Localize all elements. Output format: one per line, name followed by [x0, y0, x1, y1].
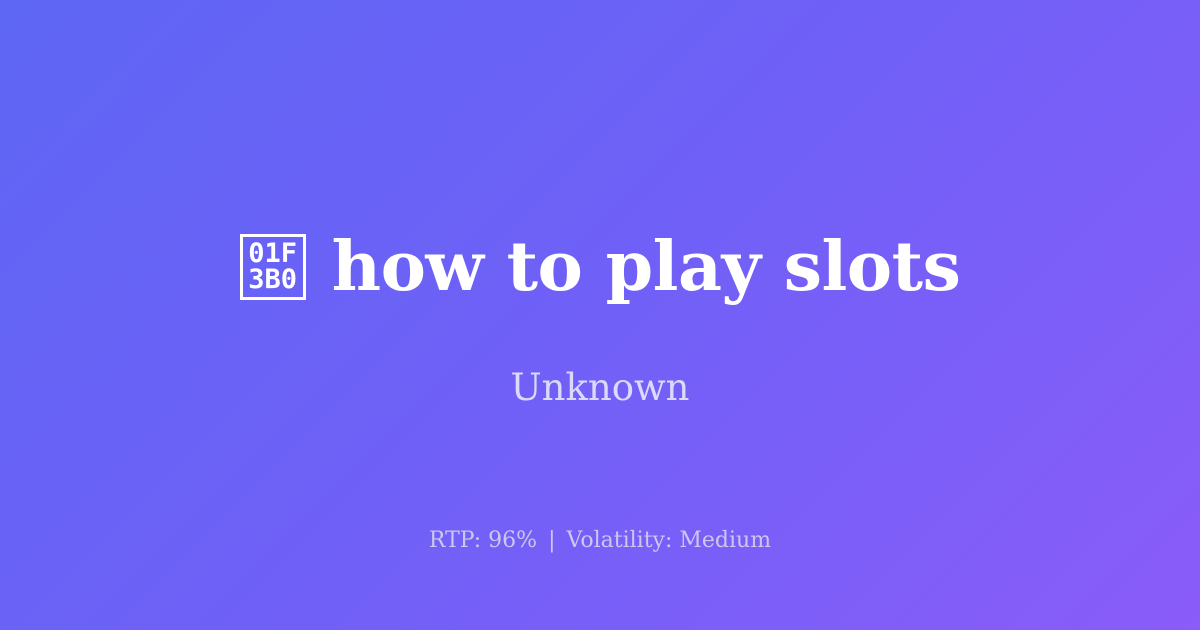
meta-separator: | [544, 528, 559, 553]
rtp-value: RTP: 96% [429, 528, 537, 553]
page-title: how to play slots [332, 231, 961, 303]
subtitle: Unknown [0, 366, 1200, 410]
open-graph-card: 01F 3B0 how to play slots Unknown RTP: 9… [0, 0, 1200, 630]
title-row: 01F 3B0 how to play slots [0, 231, 1200, 303]
game-meta-line: RTP: 96% | Volatility: Medium [0, 528, 1200, 554]
volatility-value: Volatility: Medium [567, 528, 772, 553]
slot-machine-emoji-icon: 01F 3B0 [240, 234, 306, 300]
emoji-codepoint-bottom: 3B0 [248, 267, 297, 293]
